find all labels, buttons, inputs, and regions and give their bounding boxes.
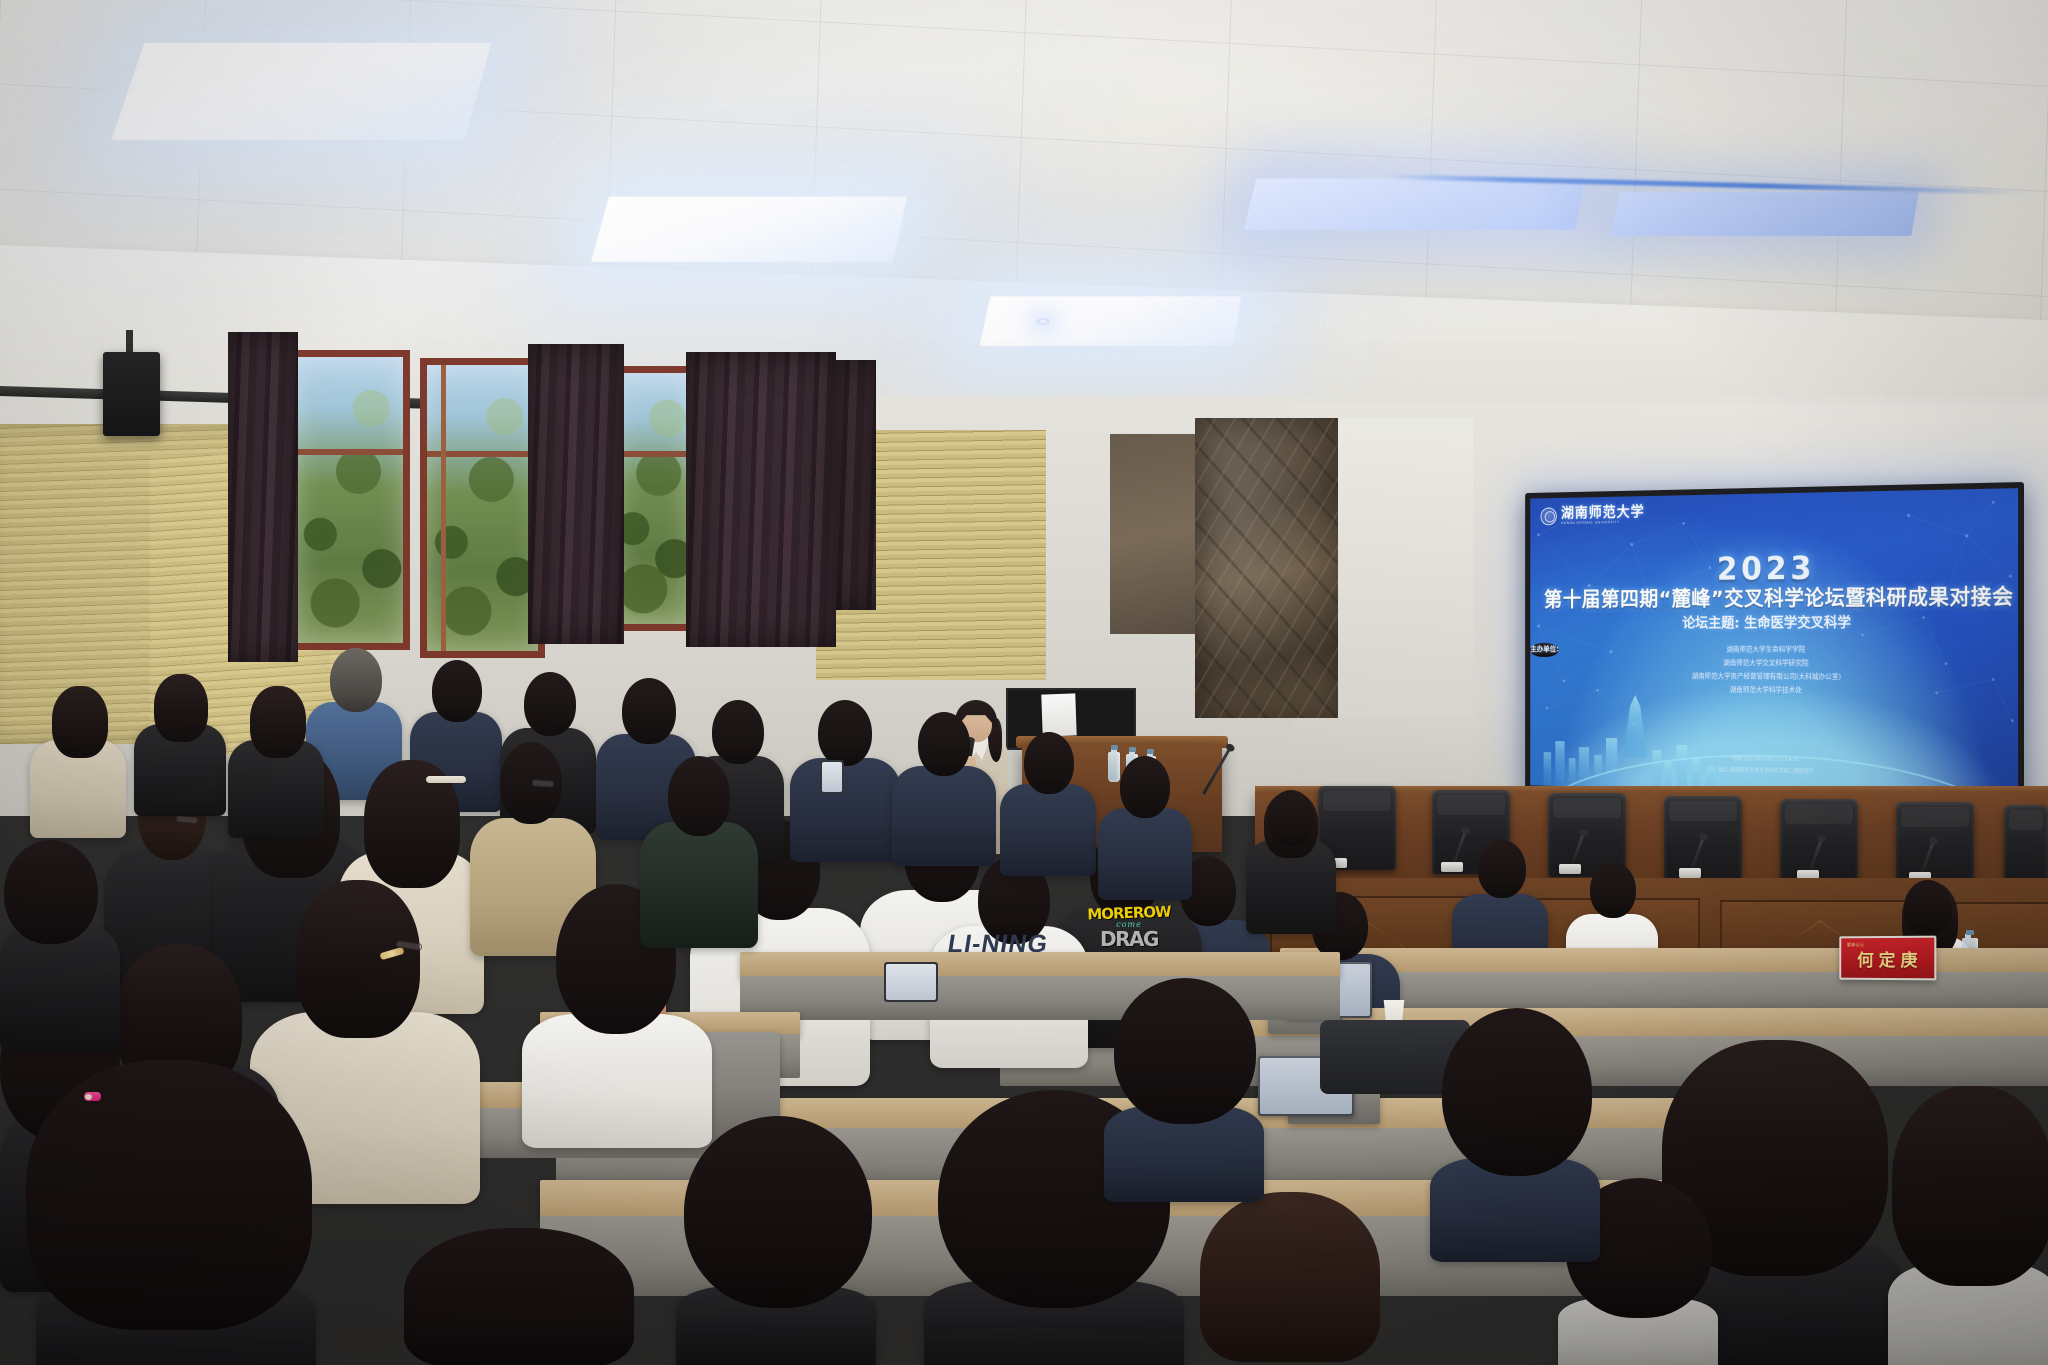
slide-organizers: 主办单位: 湖南师范大学生命科学学院 湖南师范大学交叉科学研究院 湖南师范大学资… xyxy=(1530,643,2018,699)
attendee-head xyxy=(1590,862,1636,918)
attendee-foreground xyxy=(676,1116,876,1365)
ceiling-light-panel xyxy=(591,197,907,262)
attendee-head xyxy=(1904,880,1952,936)
attendee-hair xyxy=(250,686,306,758)
microphone-base xyxy=(1679,868,1701,878)
window xyxy=(290,350,410,650)
attendee-head gray xyxy=(1024,732,1074,794)
attendee xyxy=(30,686,126,836)
attendee xyxy=(134,674,226,814)
attendee-head xyxy=(404,1228,634,1365)
attendee-head xyxy=(4,840,98,944)
attendee-torso xyxy=(522,1014,712,1148)
window xyxy=(420,358,545,658)
curtain xyxy=(686,352,836,647)
attendee-hair xyxy=(154,674,208,742)
ceiling-light-panel xyxy=(980,296,1242,346)
tablet-device xyxy=(884,962,938,1002)
attendee-torso xyxy=(1098,808,1192,900)
marble-panel-small xyxy=(1110,434,1202,634)
bench-desk xyxy=(740,952,1340,978)
name-placard: 麓峰论坛 何定庚 xyxy=(1839,936,1936,981)
ceiling-downlight xyxy=(1036,318,1050,325)
attendee-hair xyxy=(296,880,420,1038)
eyeglasses xyxy=(532,779,554,788)
attendee-torso xyxy=(640,822,758,948)
attendee-torso xyxy=(1000,784,1096,876)
white-wall-column xyxy=(1338,418,1473,718)
attendee-head xyxy=(668,756,730,836)
attendee-head xyxy=(684,1116,872,1308)
placard-subtitle: 麓峰论坛 xyxy=(1847,942,1864,948)
attendee-head xyxy=(1442,1008,1592,1176)
attendee-phone-raised xyxy=(820,760,880,830)
slide-theme: 论坛主题: 生命医学交叉科学 xyxy=(1530,611,2018,633)
smartphone xyxy=(820,760,844,794)
attendee-hair xyxy=(52,686,108,758)
executive-chair xyxy=(2004,805,2048,889)
placard-name: 何定庚 xyxy=(1852,945,1922,970)
attendee xyxy=(1430,1008,1600,1258)
attendee xyxy=(228,686,324,836)
lecture-hall-photograph: 湖南师范大学 HUNAN NORMAL UNIVERSITY 2023 第十届第… xyxy=(0,0,2048,1365)
attendee-foreground xyxy=(404,1228,634,1365)
attendee xyxy=(1098,756,1192,896)
wall-loudspeaker xyxy=(103,352,160,436)
bottle-cap xyxy=(1966,930,1974,935)
attendee-hair xyxy=(1892,1086,2048,1286)
attendee-head xyxy=(1114,978,1256,1124)
attendee-head xyxy=(918,712,970,776)
window-mullion xyxy=(297,449,403,455)
bottle-cap xyxy=(1129,747,1136,752)
organizers-heading: 主办单位: xyxy=(1530,643,1559,657)
slide-title: 第十届第四期“麓峰”交叉科学论坛暨科研成果对接会 xyxy=(1544,580,2003,613)
attendee-head xyxy=(26,1060,312,1330)
slide-content: 湖南师范大学 HUNAN NORMAL UNIVERSITY 2023 第十届第… xyxy=(1530,488,2018,796)
attendee xyxy=(892,712,996,862)
attendee-head xyxy=(622,678,676,744)
attendee-head xyxy=(524,672,576,736)
attendee xyxy=(1000,732,1096,872)
attendee xyxy=(640,756,758,946)
attendee-foreground xyxy=(1200,1192,1380,1365)
marble-pillar xyxy=(1195,418,1341,718)
attendee-foreground xyxy=(26,1060,316,1365)
organizer-item: 湖南师范大学生命科学学院 xyxy=(1530,643,2018,657)
attendee xyxy=(1104,978,1264,1198)
window-mullion xyxy=(617,451,689,457)
attendee-head xyxy=(330,648,382,712)
window-foliage xyxy=(617,373,689,624)
attendee-foreground xyxy=(1888,1086,2048,1365)
university-seal-icon xyxy=(1540,507,1556,525)
curtain xyxy=(836,360,876,610)
window-mullion xyxy=(441,365,446,651)
attendee-head xyxy=(818,700,872,766)
ceiling-light-panel xyxy=(1244,178,1585,229)
attendee-head xyxy=(1478,840,1526,898)
attendee-head xyxy=(1268,790,1314,846)
curtain xyxy=(528,344,624,644)
hair-clip-teddy-bear xyxy=(84,1092,101,1101)
led-display-screen: 湖南师范大学 HUNAN NORMAL UNIVERSITY 2023 第十届第… xyxy=(1525,482,2024,802)
attendee-head xyxy=(432,660,482,722)
attendee-head xyxy=(1200,1192,1380,1362)
curtain xyxy=(228,332,298,662)
window-foliage xyxy=(297,357,403,643)
attendee-head xyxy=(712,700,764,764)
ceiling-light-panel xyxy=(1610,192,1919,236)
university-name-cn: 湖南师范大学 xyxy=(1561,505,1645,521)
headband xyxy=(426,776,466,783)
attendee xyxy=(0,840,120,1050)
attendee-torso xyxy=(892,766,996,866)
attendee xyxy=(1246,790,1336,930)
podium-paper-sheet xyxy=(1041,693,1076,736)
university-logo: 湖南师范大学 HUNAN NORMAL UNIVERSITY xyxy=(1540,505,1644,526)
bottle-cap xyxy=(1111,745,1118,750)
ceiling-light-panel xyxy=(111,43,491,140)
attendee-head xyxy=(1120,756,1170,818)
bottle-cap xyxy=(1147,749,1154,754)
